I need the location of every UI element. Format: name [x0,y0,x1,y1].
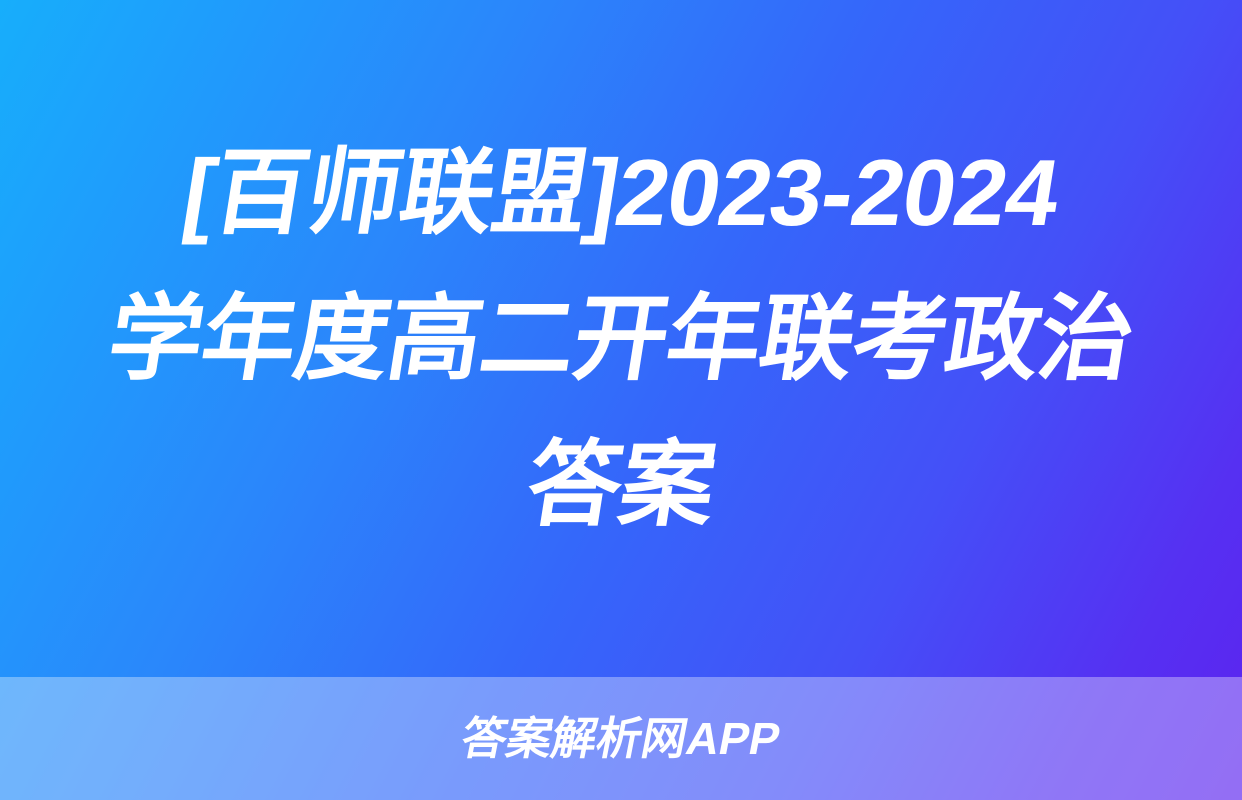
headline-line-1: [百师联盟]2023-2024 [44,120,1197,266]
exam-paper-banner: [百师联盟]2023-2024 学年度高二开年联考政治 答案 答案解析网APP [0,0,1242,800]
watermark-label: 答案解析网APP [457,713,785,765]
footer-watermark-band: 答案解析网APP [0,677,1242,800]
headline-line-2: 学年度高二开年联考政治 [44,266,1197,412]
headline-line-3: 答案 [44,412,1197,558]
headline-block: [百师联盟]2023-2024 学年度高二开年联考政治 答案 [0,0,1242,677]
